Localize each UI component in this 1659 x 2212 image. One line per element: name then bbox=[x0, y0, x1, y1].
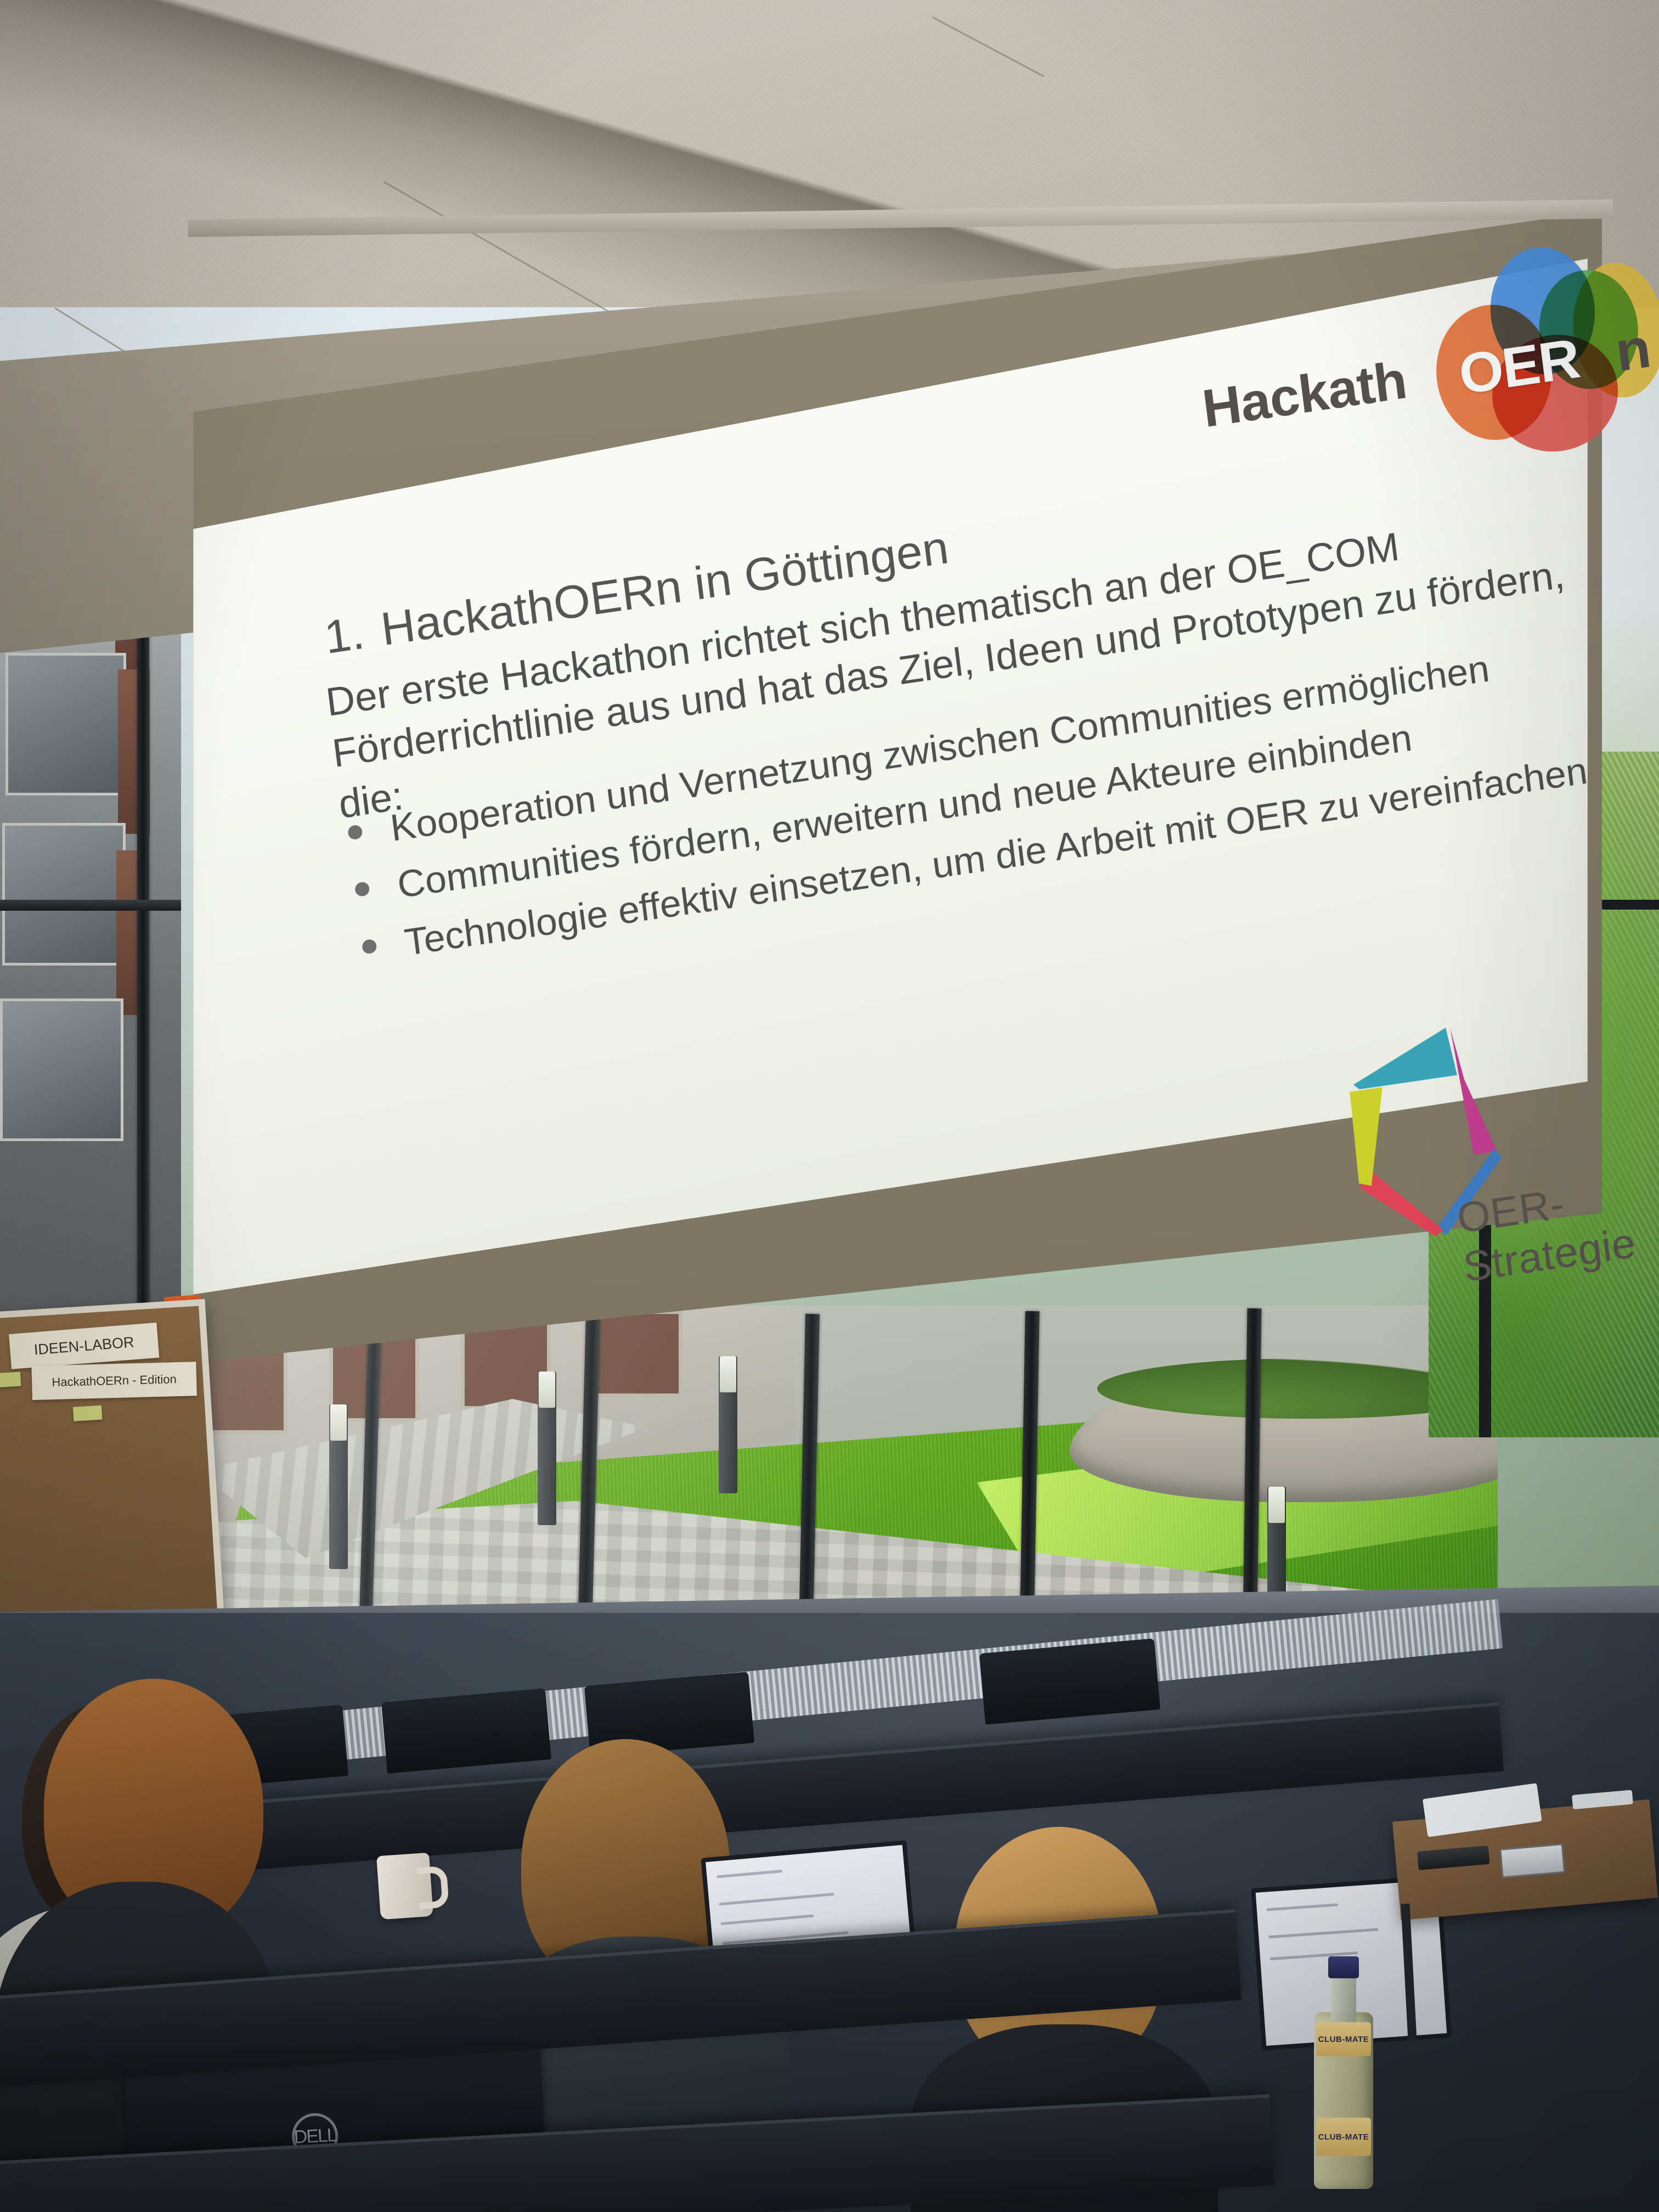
pinboard-note-bottom: HackathOERn - Edition bbox=[31, 1362, 197, 1400]
window-transom bbox=[0, 900, 181, 911]
coffee-mug bbox=[376, 1853, 433, 1920]
pinboard-sticky-note bbox=[0, 1372, 21, 1387]
screen-text-line bbox=[1267, 1903, 1338, 1911]
facade-window bbox=[5, 653, 126, 795]
facade-window bbox=[2, 823, 126, 966]
screen-text-line bbox=[716, 1870, 782, 1878]
seat-back bbox=[381, 1688, 551, 1774]
bullet-dot-icon bbox=[347, 825, 363, 840]
oer-strategie-logo: OER-Strategie bbox=[1311, 959, 1659, 1293]
screen-text-line bbox=[721, 1914, 814, 1925]
pinboard-note-top: IDEEN-LABOR bbox=[9, 1323, 159, 1369]
screen-text-line bbox=[719, 1893, 834, 1905]
bottle-neck bbox=[1331, 1972, 1356, 2024]
mark-triangle-magenta bbox=[1450, 1024, 1497, 1156]
bottle-label-bottom: CLUB-MATE bbox=[1316, 2118, 1371, 2156]
seat-back bbox=[979, 1638, 1160, 1724]
bullet-dot-icon bbox=[354, 882, 370, 898]
mark-triangle-teal bbox=[1348, 1027, 1457, 1090]
av-remote-control[interactable] bbox=[1417, 1846, 1489, 1870]
hackathoern-logo-prefix: Hackath bbox=[1199, 349, 1410, 439]
slide-number: 1. bbox=[321, 606, 367, 665]
lecture-hall-scene: Hackath OER n 1. HackathOERn in Göttinge… bbox=[0, 0, 1659, 2212]
bottle-label-top: CLUB-MATE bbox=[1316, 2022, 1371, 2056]
bollard-light bbox=[329, 1404, 348, 1569]
bottle-cap bbox=[1328, 1956, 1359, 1978]
club-mate-bottle: CLUB-MATE CLUB-MATE bbox=[1314, 1953, 1373, 2189]
screen-text-line bbox=[1268, 1928, 1378, 1938]
mark-triangle-yellow bbox=[1347, 1087, 1394, 1188]
projection-screen: Hackath OER n 1. HackathOERn in Göttinge… bbox=[165, 208, 1602, 1415]
pinboard-sticky-note bbox=[73, 1406, 102, 1421]
bullet-dot-icon bbox=[362, 939, 377, 955]
control-tablet[interactable] bbox=[1499, 1843, 1565, 1878]
facade-window bbox=[0, 998, 123, 1141]
